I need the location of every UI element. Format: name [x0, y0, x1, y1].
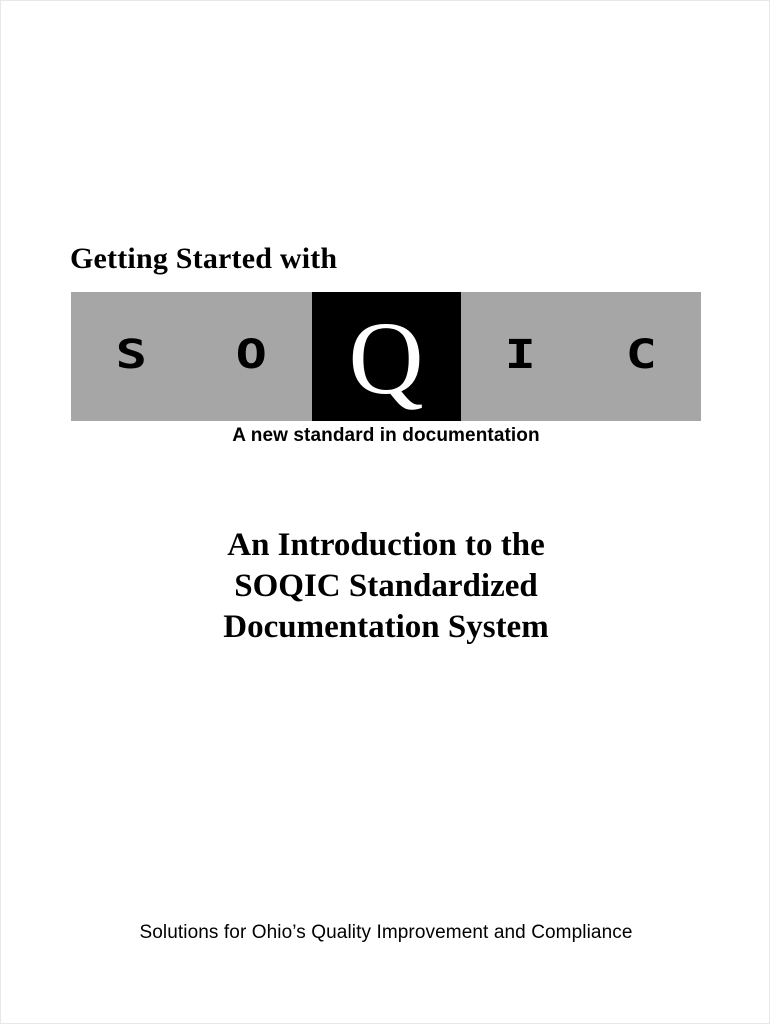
page-title-line-3: Documentation System: [71, 607, 701, 648]
cover-page: Getting Started with S O Q I C A new sta…: [0, 0, 770, 1024]
logo-cell-s: S: [71, 292, 191, 421]
logo-cell-c: C: [581, 292, 701, 421]
logo-cell-q-highlight: Q: [312, 292, 461, 421]
logo-cell-i: I: [461, 292, 581, 421]
soqic-logo-banner: S O Q I C: [71, 292, 701, 421]
kicker-text: Getting Started with: [70, 241, 337, 277]
page-title: An Introduction to the SOQIC Standardize…: [71, 525, 701, 648]
footer-tagline: Solutions for Ohio’s Quality Improvement…: [41, 921, 731, 945]
logo-letter-c: C: [625, 334, 656, 374]
page-title-line-2: SOQIC Standardized: [71, 566, 701, 607]
page-title-line-1: An Introduction to the: [71, 525, 701, 566]
logo-cell-o: O: [191, 292, 311, 421]
logo-letter-q: Q: [348, 307, 423, 411]
logo-letter-row: S O Q I C: [71, 292, 701, 421]
logo-tagline: A new standard in documentation: [71, 424, 701, 448]
logo-letter-o: O: [236, 334, 267, 374]
logo-letter-i: I: [505, 334, 536, 374]
logo-letter-s: S: [115, 334, 146, 374]
